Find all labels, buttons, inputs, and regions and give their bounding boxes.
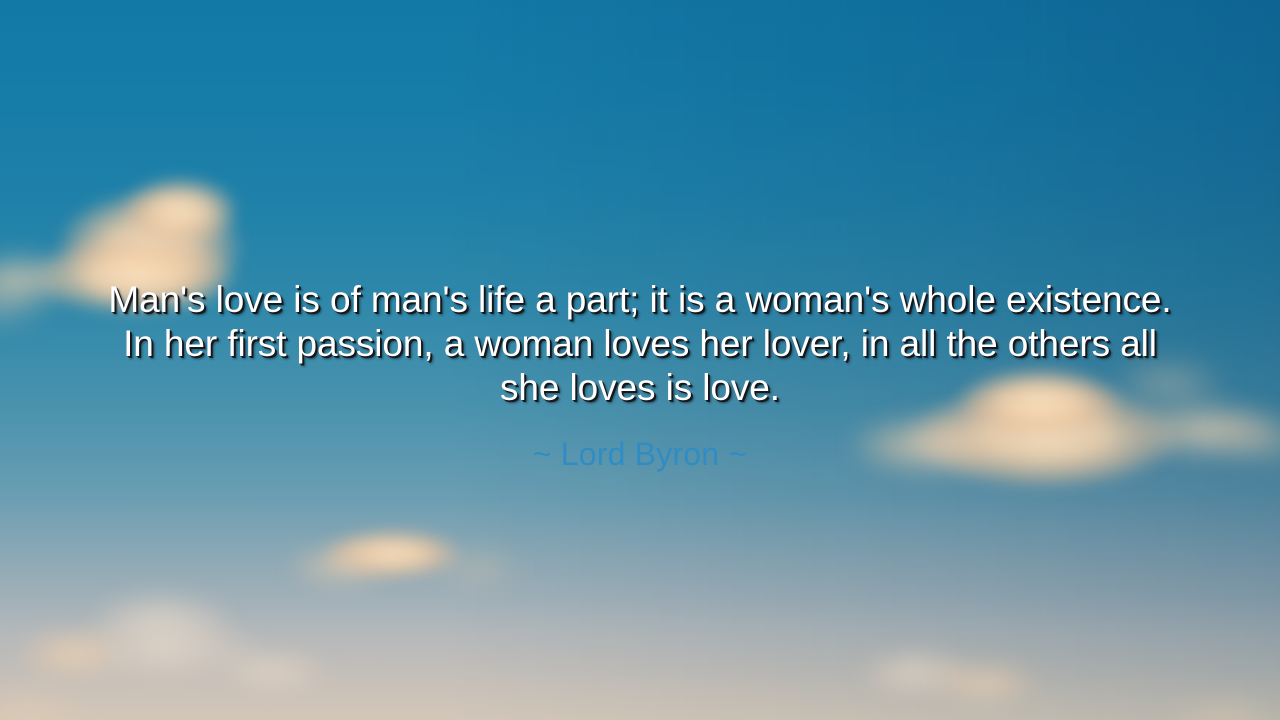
- quote-block: Man's love is of man's life a part; it i…: [95, 278, 1185, 410]
- bottom-right-far-wisp-cloud: [1168, 700, 1278, 720]
- mid-lower-cloud-tail-cloud: [286, 548, 396, 584]
- bottom-right-cloud-tail-cloud: [930, 664, 1040, 702]
- quote-image-canvas: Man's love is of man's life a part; it i…: [0, 0, 1280, 720]
- lower-left-corner-wisp-cloud: [0, 692, 90, 720]
- mid-lower-cloud-wisp-cloud: [430, 552, 525, 584]
- quote-text: Man's love is of man's life a part; it i…: [95, 278, 1185, 410]
- attribution-block: ~ Lord Byron ~: [190, 434, 1090, 474]
- lower-left-cumulus-right-cloud: [212, 648, 332, 694]
- attribution-text: ~ Lord Byron ~: [190, 434, 1090, 474]
- lower-left-cumulus-left-cloud: [16, 628, 126, 680]
